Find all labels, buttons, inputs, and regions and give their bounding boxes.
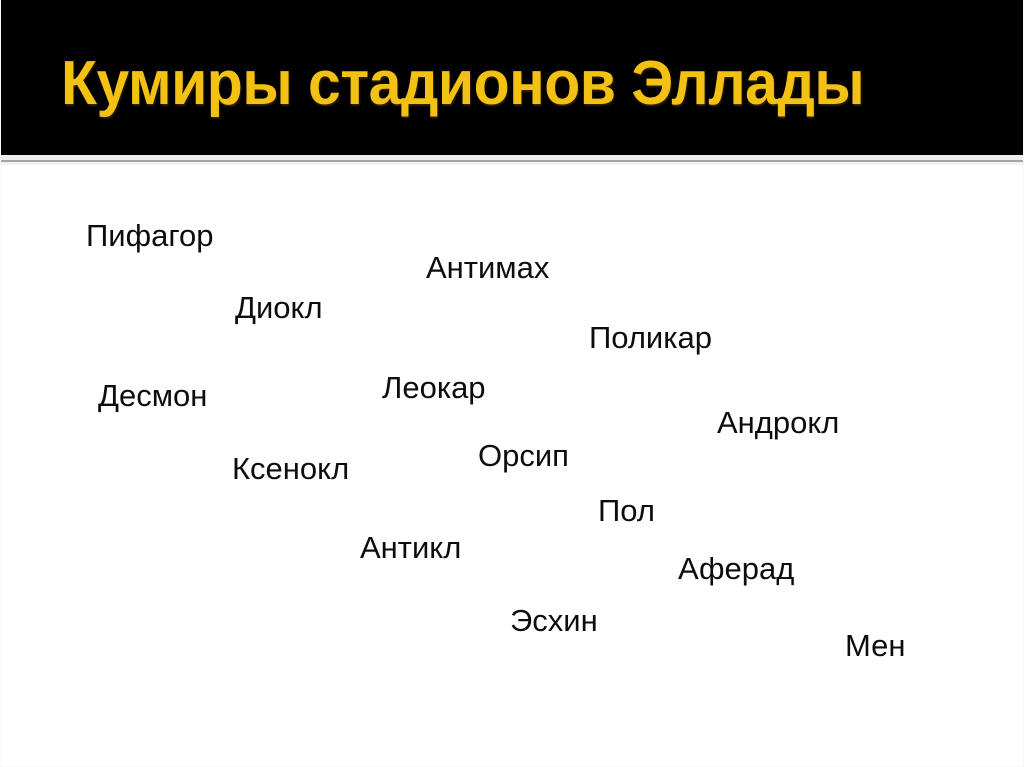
name-label: Аферад [678, 551, 794, 587]
name-label: Пифагор [86, 218, 213, 254]
name-label: Пол [598, 493, 655, 529]
name-label: Леокар [382, 370, 486, 406]
name-label: Ксенокл [232, 451, 349, 487]
name-label: Эсхин [510, 603, 598, 639]
name-label: Антимах [426, 250, 549, 286]
slide-title: Кумиры стадионов Эллады [61, 48, 916, 120]
name-label: Диокл [235, 290, 323, 326]
name-label: Мен [845, 628, 906, 664]
name-label: Орсип [478, 438, 569, 474]
slide-title-banner: Кумиры стадионов Эллады [1, 0, 1024, 155]
name-label: Антикл [360, 530, 461, 566]
name-label: Десмон [98, 378, 207, 414]
presentation-slide: Кумиры стадионов Эллады ПифагорАнтимахДи… [0, 0, 1024, 767]
names-cloud: ПифагорАнтимахДиоклПоликарЛеокарДесмонАн… [1, 165, 1024, 767]
name-label: Поликар [589, 320, 712, 356]
name-label: Андрокл [717, 405, 839, 441]
